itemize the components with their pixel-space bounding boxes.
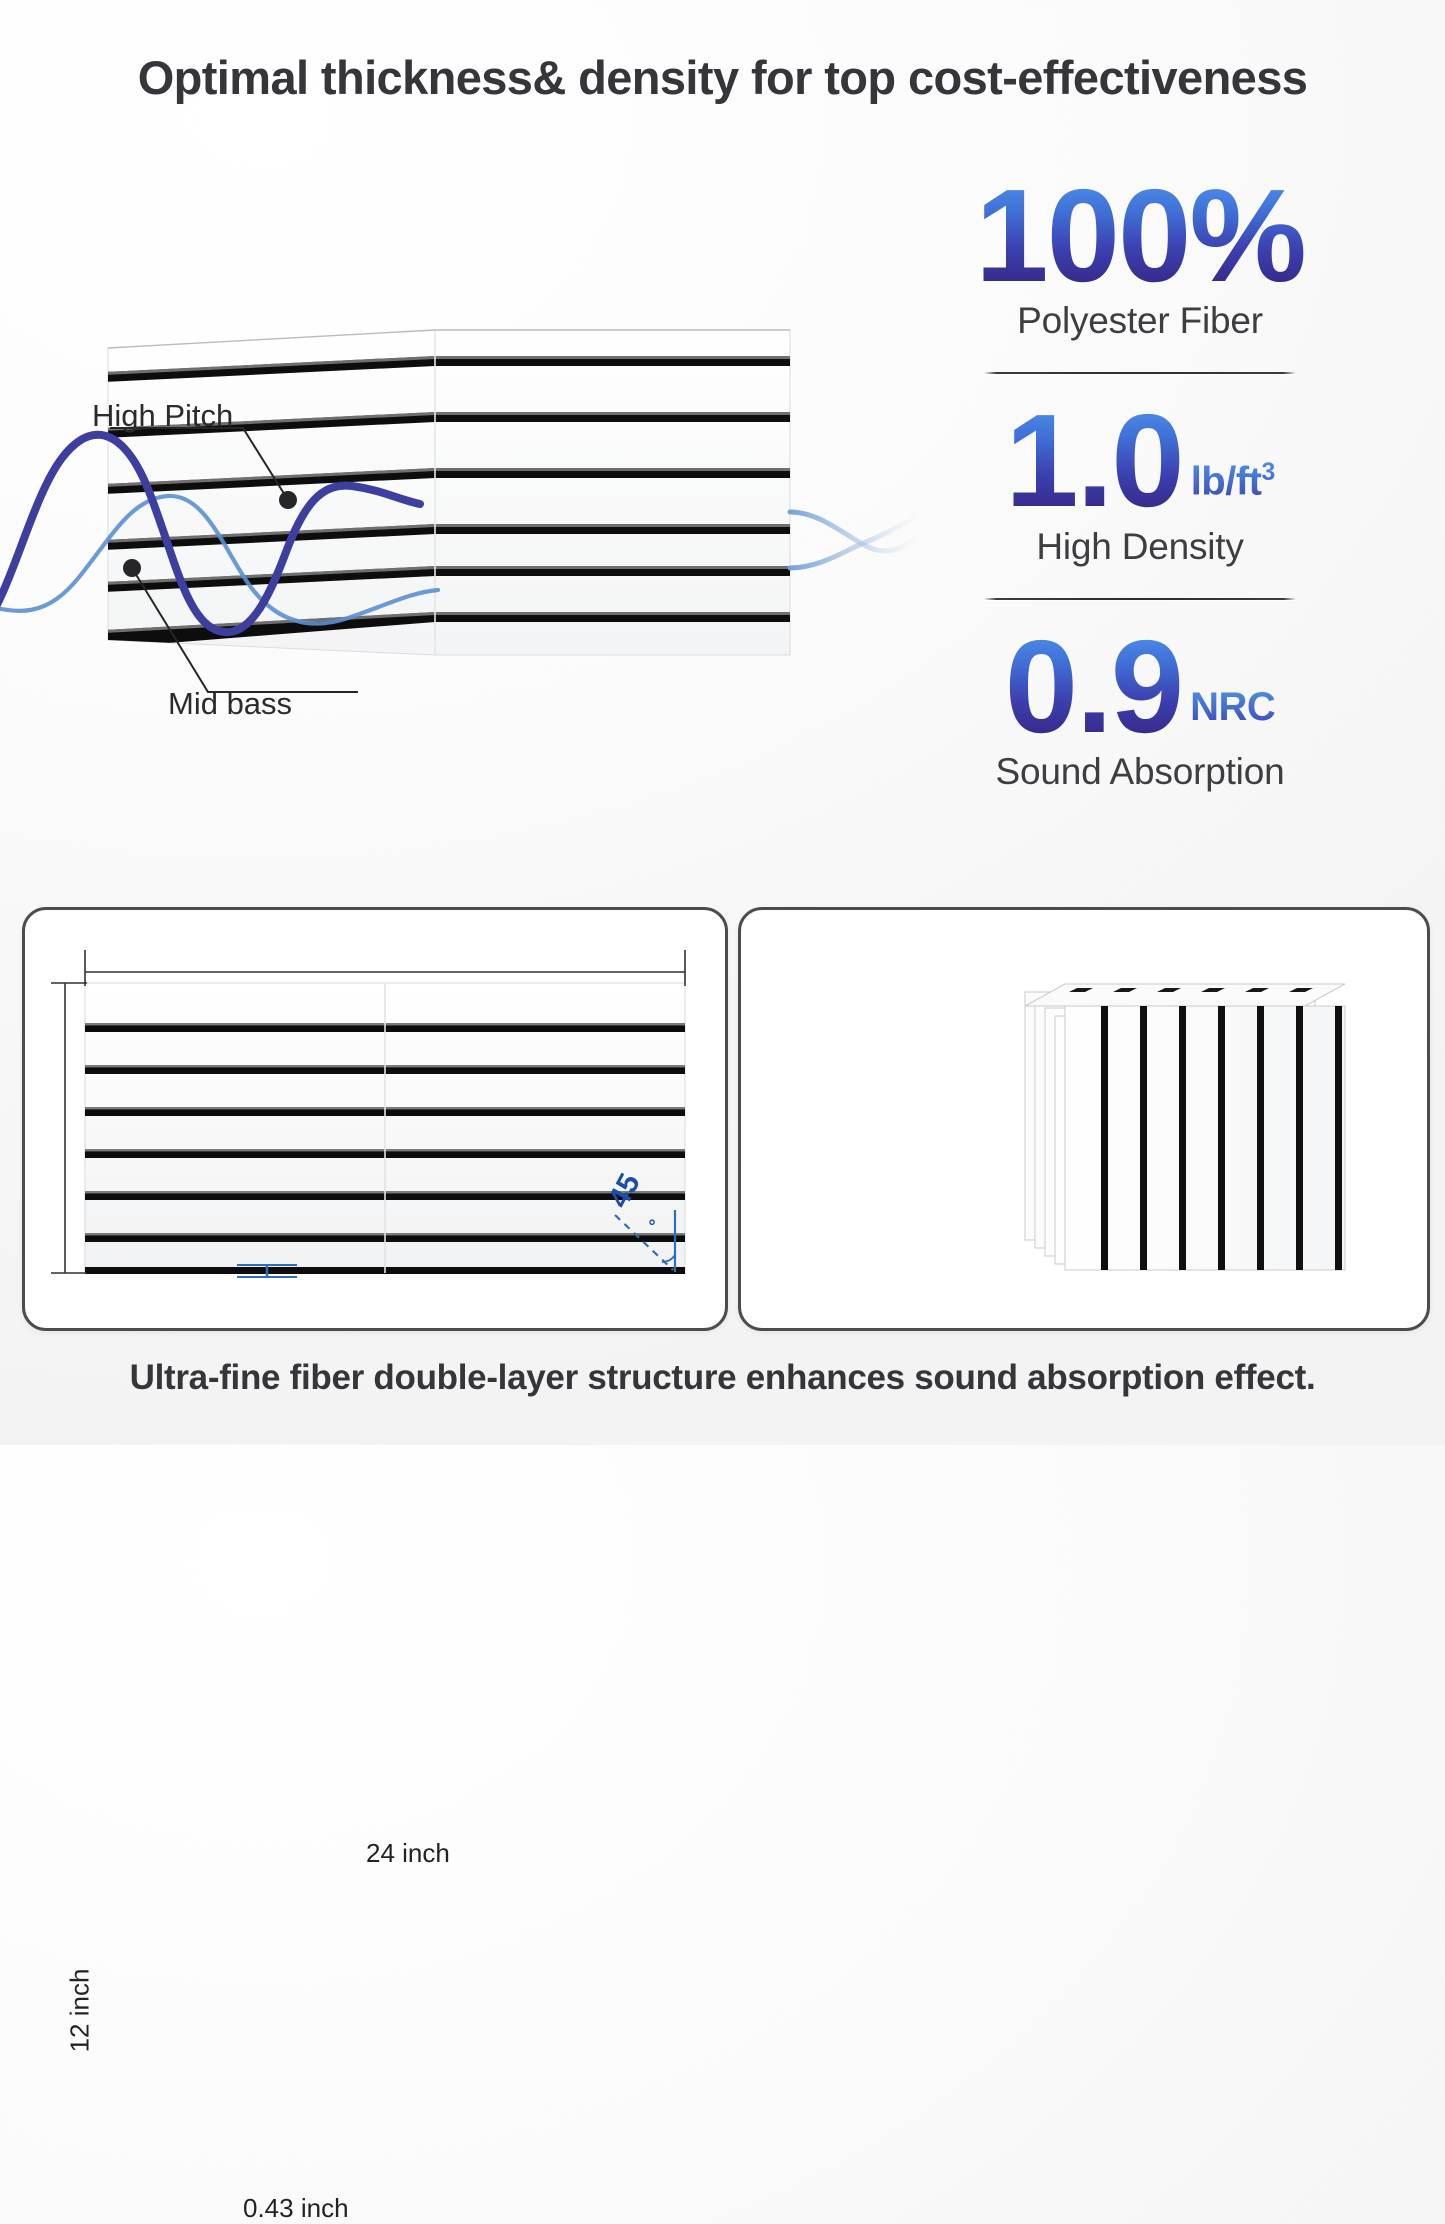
footer-caption: Ultra-fine fiber double-layer structure … — [0, 1358, 1445, 1398]
stat-label: Sound Absorption — [905, 751, 1375, 793]
page-title: Optimal thickness& density for top cost-… — [0, 50, 1445, 105]
stat-unit: lb/ft3 — [1191, 462, 1275, 522]
stat-value-row: 1.0 lb/ft3 — [905, 400, 1375, 521]
height-label: 12 inch — [64, 1969, 95, 2053]
stat-value-row: 0.9 NRC — [905, 626, 1375, 747]
panel-face-right — [435, 330, 790, 655]
stat-unit-text: NRC — [1190, 685, 1275, 729]
pack-card: 24*12*0.43in 11.6 ft2 6 Pack — [738, 907, 1430, 1331]
stat-high-density: 1.0 lb/ft3 High Density — [905, 400, 1375, 567]
high-pitch-label: High Pitch — [92, 398, 233, 434]
stat-unit-exponent: 3 — [1262, 459, 1275, 486]
stat-label: High Density — [905, 526, 1375, 568]
stat-divider-1 — [984, 372, 1296, 374]
stat-polyester-fiber: 100% Polyester Fiber — [905, 175, 1375, 342]
acoustic-panel-illustration — [0, 300, 900, 720]
dimension-diagram-svg: 45 ° — [25, 910, 725, 1328]
thickness-label: 0.43 inch — [243, 2193, 349, 2224]
width-dimension-line — [85, 950, 685, 986]
panel-stack-illustration — [1009, 978, 1409, 1278]
specs-stats-panel: 100% Polyester Fiber 1.0 lb/ft3 High Den… — [905, 175, 1375, 895]
stat-value: 0.9 — [1005, 626, 1183, 747]
attenuated-wave-lower — [790, 516, 916, 568]
dimension-card: 45 ° 24 inch 12 inch 0.43 inch — [22, 907, 728, 1331]
stat-value: 1.0 — [1005, 400, 1183, 521]
stat-sound-absorption: 0.9 NRC Sound Absorption — [905, 626, 1375, 793]
stat-value: 100% — [975, 175, 1305, 296]
stat-divider-2 — [984, 598, 1296, 600]
infographic-canvas: Optimal thickness& density for top cost-… — [0, 0, 1445, 1445]
mid-bass-label: Mid bass — [168, 686, 292, 722]
width-label: 24 inch — [366, 1838, 450, 1869]
stack-top-edges — [1025, 984, 1345, 1006]
stat-unit: NRC — [1190, 689, 1275, 748]
height-dimension-line — [51, 983, 87, 1273]
stat-unit-text: lb/ft — [1191, 459, 1262, 503]
panel-perspective-svg — [0, 300, 900, 720]
stat-value-row: 100% — [905, 175, 1375, 296]
